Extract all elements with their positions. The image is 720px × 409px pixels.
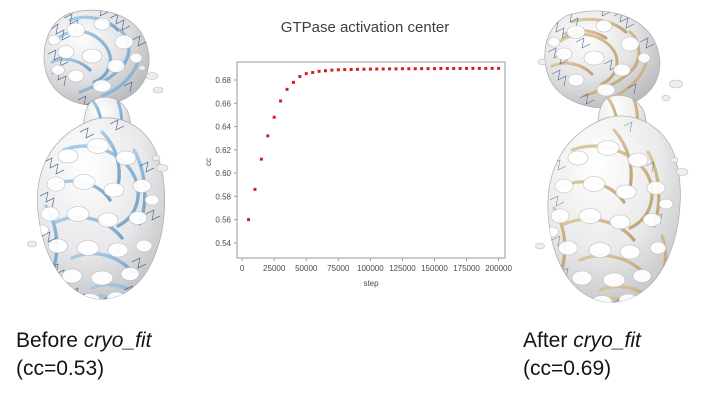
data-point (420, 67, 423, 70)
data-point (465, 67, 468, 70)
x-tick-label: 125000 (389, 264, 416, 273)
caption-before-main: Before (16, 329, 84, 352)
y-tick-label: 0.62 (215, 146, 231, 155)
before-density-map (6, 0, 206, 318)
caption-before-cc: (cc=0.53) (16, 355, 151, 383)
x-tick-label: 100000 (357, 264, 384, 273)
data-point (491, 67, 494, 70)
data-point (452, 67, 455, 70)
y-axis-label: cc (204, 158, 213, 166)
data-point (305, 72, 308, 75)
y-tick-label: 0.68 (215, 76, 231, 85)
data-point (253, 188, 256, 191)
cc-vs-step-chart: GTPase activation center 0.540.560.580.6… (200, 6, 518, 301)
data-point (427, 67, 430, 70)
before-cryo-fit-structure (6, 0, 206, 318)
data-point (446, 67, 449, 70)
data-point (247, 218, 250, 221)
data-point (362, 68, 365, 71)
caption-before: Before cryo_fit (cc=0.53) (16, 327, 151, 383)
x-tick-label: 25000 (263, 264, 286, 273)
data-point (298, 75, 301, 78)
data-point (292, 81, 295, 84)
data-point (484, 67, 487, 70)
after-density-map (516, 0, 716, 318)
x-tick-label: 50000 (295, 264, 318, 273)
after-upper-lobe (538, 6, 683, 108)
chart-title: GTPase activation center (281, 19, 449, 36)
chart-svg: GTPase activation center 0.540.560.580.6… (200, 6, 518, 301)
y-tick-label: 0.58 (215, 192, 231, 201)
x-tick-label: 175000 (453, 264, 480, 273)
data-point (382, 67, 385, 70)
y-tick-label: 0.60 (215, 169, 231, 178)
data-point (330, 69, 333, 72)
caption-after-main: After (523, 329, 573, 352)
data-point (324, 69, 327, 72)
data-point (350, 68, 353, 71)
x-tick-label: 75000 (327, 264, 350, 273)
data-point (356, 68, 359, 71)
x-tick-label: 200000 (485, 264, 512, 273)
x-tick-label: 0 (240, 264, 245, 273)
data-point (497, 67, 500, 70)
data-point (369, 68, 372, 71)
x-axis: 0250005000075000100000125000150000175000… (240, 258, 513, 273)
x-tick-label: 150000 (421, 264, 448, 273)
data-point (266, 134, 269, 137)
data-point (286, 88, 289, 91)
data-point (414, 67, 417, 70)
data-point (471, 67, 474, 70)
data-point (279, 99, 282, 102)
data-point (337, 68, 340, 71)
caption-after: After cryo_fit (cc=0.69) (523, 327, 641, 383)
before-lower-lobe (28, 118, 169, 307)
data-point (375, 67, 378, 70)
caption-after-italic: cryo_fit (573, 329, 641, 352)
y-tick-label: 0.64 (215, 123, 231, 132)
data-point (311, 71, 314, 74)
data-point (433, 67, 436, 70)
data-point (388, 67, 391, 70)
caption-after-cc: (cc=0.69) (523, 355, 641, 383)
y-axis: 0.540.560.580.600.620.640.660.68 (215, 76, 237, 248)
y-tick-label: 0.56 (215, 216, 231, 225)
x-axis-label: step (363, 279, 379, 288)
after-lower-lobe (536, 116, 689, 309)
data-point (395, 67, 398, 70)
data-point (439, 67, 442, 70)
data-point (407, 67, 410, 70)
data-point (318, 70, 321, 73)
plot-frame (237, 62, 505, 258)
data-point (478, 67, 481, 70)
y-tick-label: 0.54 (215, 239, 231, 248)
data-point (260, 158, 263, 161)
data-point (459, 67, 462, 70)
after-cryo-fit-structure (516, 0, 716, 318)
y-tick-label: 0.66 (215, 99, 231, 108)
caption-before-italic: cryo_fit (84, 329, 152, 352)
data-point (343, 68, 346, 71)
data-point (273, 116, 276, 119)
data-point (401, 67, 404, 70)
before-upper-lobe (44, 6, 163, 106)
data-points (247, 67, 500, 221)
